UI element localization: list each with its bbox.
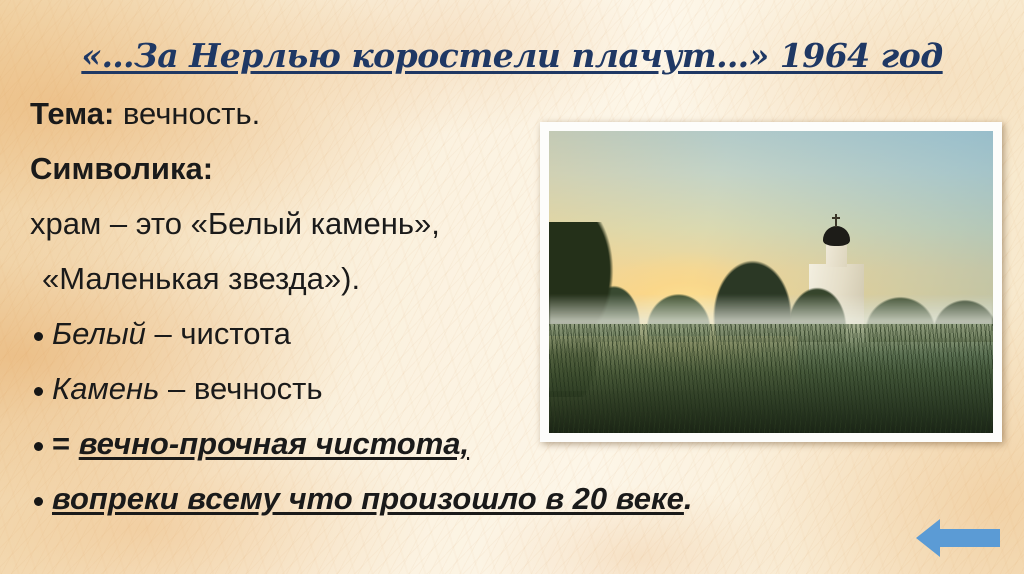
- church-cross-icon: [835, 214, 837, 227]
- bullet-list-item: вопреки всему что произошло в 20 веке.: [30, 473, 670, 528]
- text-run: Камень: [52, 371, 159, 406]
- slide: «…За Нерлью коростели плачут…» 1964 год …: [0, 0, 1024, 574]
- text-run: .: [684, 481, 693, 516]
- church-dome: [823, 226, 851, 246]
- text-run: вопреки всему что произошло в 20 веке: [52, 481, 684, 516]
- text-run: – вечность: [159, 371, 322, 406]
- text-run: Белый: [52, 316, 146, 351]
- text-run: Тема:: [30, 96, 114, 131]
- text-run: вечно-прочная чистота,: [79, 426, 469, 461]
- bullet-marker-icon: [34, 442, 43, 451]
- text-run: – чистота: [146, 316, 291, 351]
- text-run: вечность.: [114, 96, 260, 131]
- arrow-left-icon[interactable]: [916, 516, 1000, 560]
- text-run: «Маленькая звезда»).: [42, 261, 360, 296]
- bullet-marker-icon: [34, 387, 43, 396]
- text-run: Символика:: [30, 151, 213, 186]
- reed-grass-foreground: [549, 324, 993, 433]
- bullet-marker-icon: [34, 332, 43, 341]
- church-photo: [549, 131, 993, 433]
- photo-frame: [540, 122, 1002, 442]
- text-run: =: [52, 426, 79, 461]
- page-title: «…За Нерлью коростели плачут…» 1964 год: [0, 36, 1024, 75]
- text-run: храм – это «Белый камень»,: [30, 206, 440, 241]
- bullet-marker-icon: [34, 497, 43, 506]
